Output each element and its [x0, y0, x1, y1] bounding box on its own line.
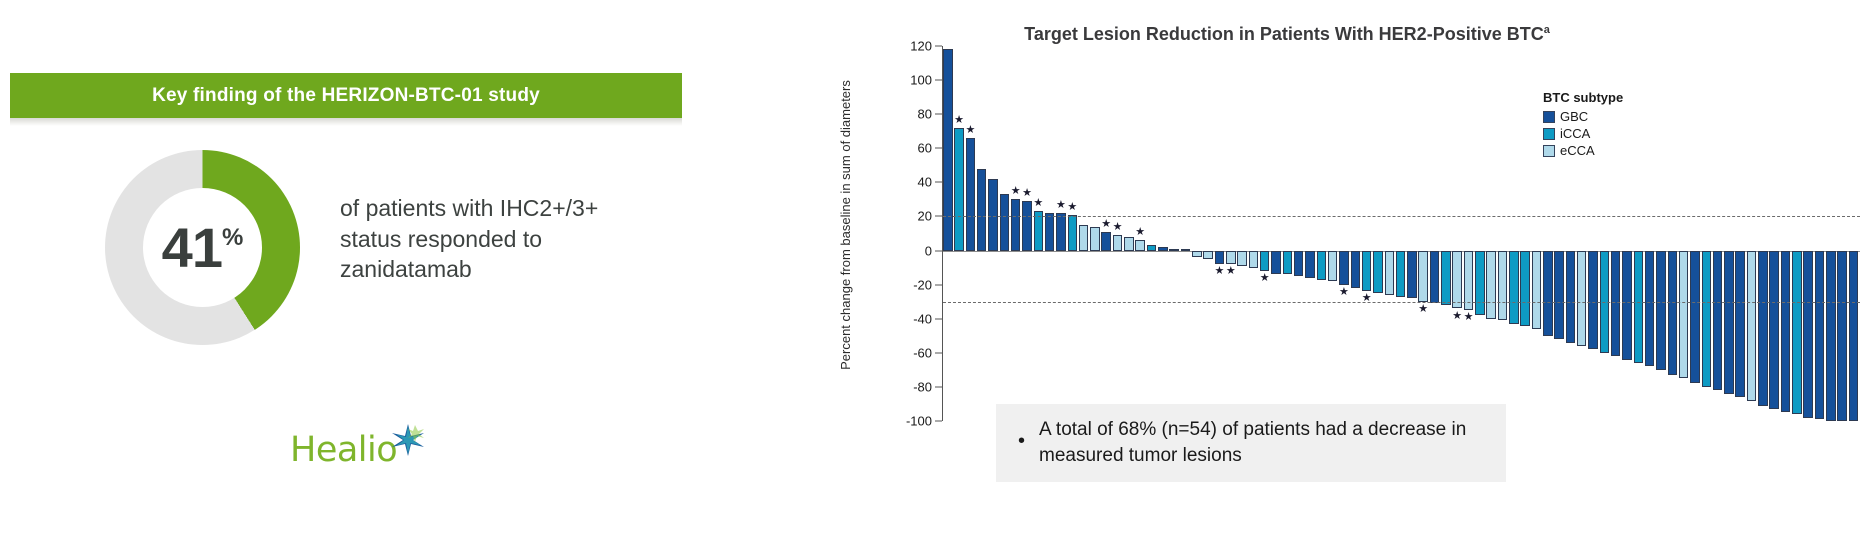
waterfall-bar	[1747, 251, 1757, 401]
waterfall-chart-panel: Target Lesion Reduction in Patients With…	[700, 0, 1874, 551]
y-axis-tick-mark	[935, 421, 942, 422]
waterfall-bar	[1645, 251, 1655, 367]
bar-star-marker: ★	[1339, 287, 1349, 298]
chart-legend: BTC subtype GBCiCCAeCCA	[1543, 90, 1623, 160]
donut-percent-sign: %	[222, 226, 243, 250]
waterfall-bar	[1407, 251, 1417, 299]
waterfall-bar	[1452, 251, 1462, 309]
waterfall-bar	[1192, 251, 1202, 258]
healio-star-icon	[391, 423, 425, 462]
bar-star-marker: ★	[1067, 202, 1077, 213]
donut-number: 41	[162, 220, 222, 276]
callout-box: • A total of 68% (n=54) of patients had …	[996, 404, 1506, 482]
waterfall-bar	[1237, 251, 1247, 266]
bar-star-marker: ★	[965, 125, 975, 136]
legend-item: GBC	[1543, 109, 1623, 124]
waterfall-bar	[1566, 251, 1576, 343]
waterfall-bar	[1373, 251, 1383, 294]
plot-outer: 120100806040200-20-40-60-80-100 ★★★★★★★★…	[890, 46, 1860, 421]
y-axis-tick-mark	[935, 250, 942, 251]
waterfall-bar	[1283, 251, 1293, 275]
waterfall-bar	[1396, 251, 1406, 297]
y-axis-tick-label: -20	[913, 277, 932, 292]
waterfall-bar	[1769, 251, 1779, 410]
waterfall-bar	[1305, 251, 1315, 278]
waterfall-bar	[1781, 251, 1791, 413]
bar-star-marker: ★	[954, 115, 964, 126]
y-axis-tick-label: 80	[918, 107, 932, 122]
waterfall-bar	[1702, 251, 1712, 387]
y-axis-ticks: 120100806040200-20-40-60-80-100	[890, 46, 942, 421]
y-axis-tick-label: 40	[918, 175, 932, 190]
reference-line	[943, 302, 1860, 303]
waterfall-bar	[1056, 213, 1066, 251]
waterfall-bar	[1577, 251, 1587, 346]
y-axis-tick-mark	[935, 46, 942, 47]
waterfall-bar	[1101, 232, 1111, 251]
waterfall-bar	[1226, 251, 1236, 265]
waterfall-bar	[988, 179, 998, 251]
donut-value: 41 %	[162, 220, 244, 276]
waterfall-bar	[1543, 251, 1553, 336]
legend-swatch	[1543, 145, 1555, 157]
bar-star-marker: ★	[1135, 227, 1145, 238]
y-axis-title: Percent change from baseline in sum of d…	[838, 0, 858, 75]
y-axis-tick-mark	[935, 352, 942, 353]
waterfall-bar	[1611, 251, 1621, 357]
plot-area: ★★★★★★★★★★★★★★★★★★	[943, 46, 1860, 421]
waterfall-bar	[1849, 251, 1859, 421]
healio-wordmark: Healio	[290, 430, 397, 470]
response-donut-chart: 41 %	[105, 150, 300, 345]
waterfall-bar	[977, 169, 987, 251]
bar-star-marker: ★	[1418, 304, 1428, 315]
waterfall-bar	[1317, 251, 1327, 280]
donut-caption: of patients with IHC2+/3+ status respond…	[340, 193, 630, 285]
waterfall-bar	[1113, 235, 1123, 250]
legend-label: GBC	[1560, 109, 1588, 124]
waterfall-bar	[1815, 251, 1825, 420]
chart-title-footnote-marker: a	[1544, 24, 1550, 36]
waterfall-bar	[1339, 251, 1349, 285]
waterfall-bar	[1147, 245, 1157, 250]
waterfall-bar	[1068, 215, 1078, 251]
waterfall-bar	[1758, 251, 1768, 406]
bar-star-marker: ★	[1056, 200, 1066, 211]
y-axis-tick-mark	[935, 148, 942, 149]
bar-star-marker: ★	[1101, 219, 1111, 230]
waterfall-bar	[1520, 251, 1530, 326]
waterfall-bar	[1169, 249, 1179, 251]
waterfall-bar	[1090, 227, 1100, 251]
waterfall-bar	[1181, 249, 1191, 251]
waterfall-bar	[1249, 251, 1259, 268]
y-axis-tick-label: 0	[925, 243, 932, 258]
chart-title-text: Target Lesion Reduction in Patients With…	[1024, 24, 1544, 44]
bar-star-marker: ★	[1226, 266, 1236, 277]
bar-star-marker: ★	[1113, 222, 1123, 233]
waterfall-bar	[1475, 251, 1485, 316]
waterfall-bar	[1124, 237, 1134, 251]
waterfall-bar	[1622, 251, 1632, 360]
legend-swatch	[1543, 128, 1555, 140]
y-axis-tick-label: -80	[913, 379, 932, 394]
bar-star-marker: ★	[1022, 188, 1032, 199]
waterfall-bar	[1735, 251, 1745, 398]
waterfall-bar	[1656, 251, 1666, 370]
waterfall-bar	[1351, 251, 1361, 289]
legend-label: eCCA	[1560, 143, 1595, 158]
y-axis-tick-mark	[935, 216, 942, 217]
waterfall-bar	[1260, 251, 1270, 271]
waterfall-bar	[1215, 251, 1225, 265]
waterfall-bar	[1045, 213, 1055, 251]
y-axis-tick-mark	[935, 114, 942, 115]
waterfall-bar	[966, 138, 976, 251]
y-axis-title-text: Percent change from baseline in sum of d…	[838, 75, 854, 375]
y-axis-tick-label: -60	[913, 345, 932, 360]
y-axis-tick-mark	[935, 182, 942, 183]
chart-title: Target Lesion Reduction in Patients With…	[700, 24, 1874, 45]
bar-star-marker: ★	[1362, 293, 1372, 304]
waterfall-bar	[1690, 251, 1700, 384]
waterfall-bar	[1634, 251, 1644, 364]
reference-line	[943, 216, 1860, 217]
callout-bullet: •	[1018, 430, 1025, 453]
waterfall-bar	[1826, 251, 1836, 421]
legend-item: iCCA	[1543, 126, 1623, 141]
bar-star-marker: ★	[1011, 186, 1021, 197]
waterfall-bar	[1022, 201, 1032, 250]
waterfall-bar	[1203, 251, 1213, 260]
y-axis-tick-label: 120	[910, 39, 932, 54]
waterfall-bar	[1418, 251, 1428, 302]
waterfall-bar	[1385, 251, 1395, 295]
legend-title: BTC subtype	[1543, 90, 1623, 105]
waterfall-bar	[943, 49, 953, 250]
waterfall-bar	[1554, 251, 1564, 340]
waterfall-bar	[1158, 247, 1168, 250]
waterfall-bar	[1509, 251, 1519, 324]
y-axis-tick-label: 60	[918, 141, 932, 156]
y-axis-tick-mark	[935, 284, 942, 285]
waterfall-bar	[1011, 199, 1021, 250]
donut-center: 41 %	[143, 188, 262, 307]
y-axis-tick-label: -100	[906, 414, 932, 429]
waterfall-bar	[1486, 251, 1496, 319]
waterfall-bar	[1079, 225, 1089, 251]
waterfall-bar	[1668, 251, 1678, 375]
y-axis-tick-mark	[935, 386, 942, 387]
legend-swatch	[1543, 111, 1555, 123]
waterfall-bar	[1000, 194, 1010, 250]
legend-label: iCCA	[1560, 126, 1590, 141]
waterfall-bars: ★★★★★★★★★★★★★★★★★★	[943, 46, 1860, 421]
waterfall-bar	[1532, 251, 1542, 329]
y-axis-tick-mark	[935, 318, 942, 319]
key-finding-banner-text: Key finding of the HERIZON-BTC-01 study	[152, 85, 540, 107]
bar-star-marker: ★	[1033, 198, 1043, 209]
waterfall-bar	[1713, 251, 1723, 391]
y-axis-tick-label: 20	[918, 209, 932, 224]
bar-star-marker: ★	[1452, 311, 1462, 322]
callout-text: A total of 68% (n=54) of patients had a …	[1039, 417, 1492, 468]
y-axis-tick-label: 100	[910, 73, 932, 88]
waterfall-bar	[1430, 251, 1440, 304]
waterfall-bar	[1792, 251, 1802, 415]
key-finding-banner: Key finding of the HERIZON-BTC-01 study	[10, 73, 682, 118]
bar-star-marker: ★	[1215, 266, 1225, 277]
waterfall-bar	[1135, 240, 1145, 250]
waterfall-bar	[1441, 251, 1451, 306]
waterfall-bar	[1588, 251, 1598, 350]
healio-logo: Healio	[290, 430, 425, 470]
waterfall-bar	[1837, 251, 1847, 421]
bar-star-marker: ★	[1464, 312, 1474, 323]
legend-item: eCCA	[1543, 143, 1623, 158]
waterfall-bar	[1271, 251, 1281, 275]
waterfall-bar	[1803, 251, 1813, 418]
key-finding-panel: Key finding of the HERIZON-BTC-01 study …	[0, 0, 700, 551]
y-axis-tick-label: -40	[913, 311, 932, 326]
legend-items: GBCiCCAeCCA	[1543, 109, 1623, 158]
y-axis-tick-mark	[935, 80, 942, 81]
waterfall-bar	[1724, 251, 1734, 394]
banner-shadow	[10, 118, 682, 126]
waterfall-bar	[954, 128, 964, 251]
waterfall-bar	[1362, 251, 1372, 292]
waterfall-bar	[1294, 251, 1304, 277]
waterfall-bar	[1679, 251, 1689, 379]
waterfall-bar	[1498, 251, 1508, 321]
waterfall-bar	[1328, 251, 1338, 282]
bar-star-marker: ★	[1260, 273, 1270, 284]
